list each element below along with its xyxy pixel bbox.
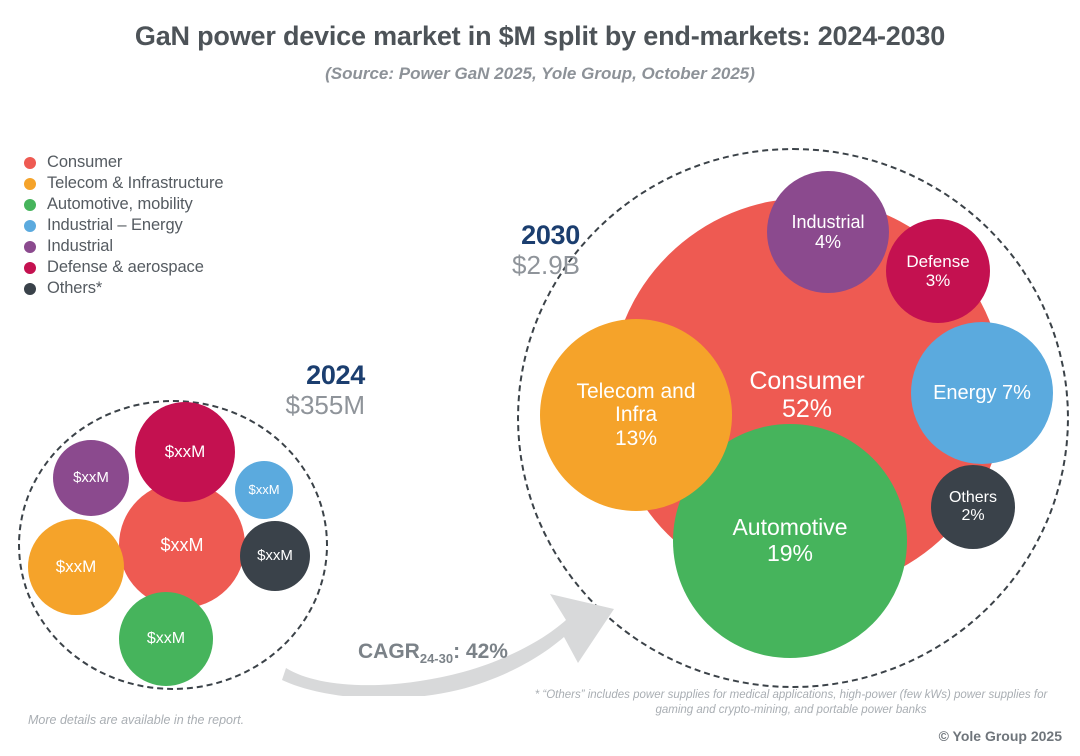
bubble-others: Others2%	[931, 465, 1015, 549]
bubble-value: 4%	[815, 232, 841, 252]
bubble-defense-aerospace: Defense3%	[886, 219, 990, 323]
copyright-note: © Yole Group 2025	[939, 728, 1062, 744]
bubble-value: 3%	[926, 271, 951, 290]
bubble-label: Others	[949, 489, 997, 507]
bubble-telecom-infrastructure: Telecom and Infra13%	[540, 319, 732, 511]
cagr-value: : 42%	[453, 640, 508, 663]
bubble-label: Automotive	[732, 515, 847, 541]
more-details-note: More details are available in the report…	[28, 713, 244, 727]
bubble-label: Defense	[906, 252, 969, 271]
bubble-label: Consumer	[749, 367, 864, 395]
year-total-2030: $2.9B	[470, 250, 580, 280]
bubble-industrial: Industrial4%	[767, 171, 889, 293]
cagr-label: CAGR24-30: 42%	[358, 640, 508, 666]
bubble-value: 2%	[961, 507, 984, 525]
bubble-value: 19%	[767, 541, 813, 567]
bubble-label: Energy 7%	[933, 382, 1031, 404]
cagr-subscript: 24-30	[420, 651, 453, 666]
cagr-arrow-icon	[278, 576, 618, 696]
bubble-value: 13%	[615, 427, 657, 451]
cagr-arrow	[278, 576, 618, 696]
others-footnote: * “Others” includes power supplies for m…	[516, 688, 1066, 718]
year-caption-2030: 2030 $2.9B	[470, 220, 580, 280]
bubble-label: Telecom and Infra	[571, 380, 701, 427]
bubble-value: 52%	[782, 395, 832, 423]
cagr-prefix: CAGR	[358, 640, 420, 663]
year-label-2030: 2030	[470, 220, 580, 250]
bubble-industrial-energy: Energy 7%	[911, 322, 1053, 464]
bubble-label: Industrial	[791, 212, 864, 232]
